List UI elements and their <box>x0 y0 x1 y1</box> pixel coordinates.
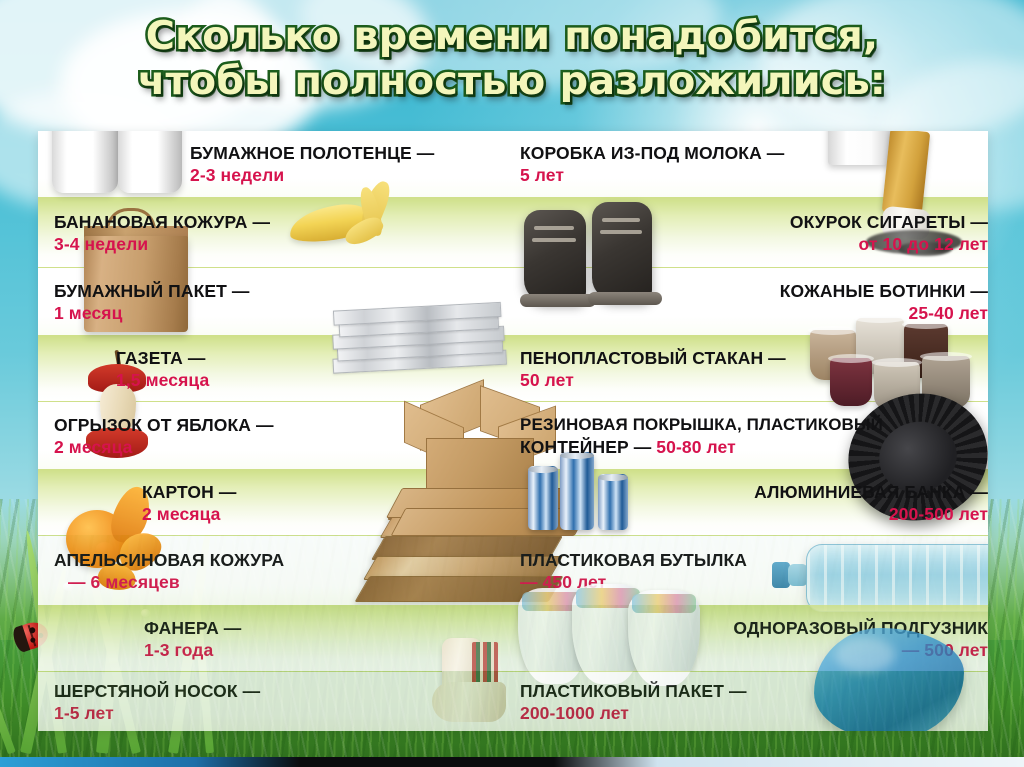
table-row: ФАНЕРА — 1-3 года ОДНОРАЗОВЫЙ ПОДГУЗНИК … <box>38 605 988 671</box>
row-left-cell: АПЕЛЬСИНОВАЯ КОЖУРА — 6 месяцев <box>38 536 524 605</box>
row-right-cell: ОДНОРАЗОВЫЙ ПОДГУЗНИК — 500 лет <box>508 606 988 671</box>
table-row: ШЕРСТЯНОЙ НОСОК — 1-5 лет ПЛАСТИКОВЫЙ ПА… <box>38 671 988 731</box>
item-label: КОЖАНЫЕ БОТИНКИ — <box>780 280 988 302</box>
item-label: ОГРЫЗОК ОТ ЯБЛОКА — <box>54 414 274 436</box>
decomposition-table: БУМАЖНОЕ ПОЛОТЕНЦЕ — 2-3 недели КОРОБКА … <box>38 131 988 731</box>
row-right-cell: КОЖАНЫЕ БОТИНКИ — 25-40 лет <box>508 268 988 335</box>
row-left-cell: ОГРЫЗОК ОТ ЯБЛОКА — 2 месяца <box>38 402 524 469</box>
table-row: БУМАЖНОЕ ПОЛОТЕНЦЕ — 2-3 недели КОРОБКА … <box>38 131 988 197</box>
item-label: АПЕЛЬСИНОВАЯ КОЖУРА <box>54 549 284 571</box>
item-value: — 450 лет <box>520 571 606 593</box>
item-label: ШЕРСТЯНОЙ НОСОК — <box>54 680 260 702</box>
item-value: 200-500 лет <box>889 503 988 525</box>
item-label: ПЛАСТИКОВАЯ БУТЫЛКА <box>520 549 747 571</box>
row-right-cell: ПЛАСТИКОВЫЙ ПАКЕТ — 200-1000 лет <box>508 672 988 731</box>
item-value: 25-40 лет <box>909 302 988 324</box>
row-right-cell: РЕЗИНОВАЯ ПОКРЫШКА, ПЛАСТИКОВЫЙ КОНТЕЙНЕ… <box>508 402 988 469</box>
row-left-cell: ШЕРСТЯНОЙ НОСОК — 1-5 лет <box>38 672 524 731</box>
row-right-cell: ОКУРОК СИГАРЕТЫ — от 10 до 12 лет <box>508 198 988 267</box>
table-row: БУМАЖНЫЙ ПАКЕТ — 1 месяц КОЖАНЫЕ БОТИНКИ… <box>38 267 988 335</box>
bottom-edge-bar <box>0 757 1024 767</box>
item-label: КАРТОН — <box>142 481 236 503</box>
item-label: АЛЮМИНИЕВАЯ БАНКА — <box>754 481 988 503</box>
item-value: 50 лет <box>520 369 574 391</box>
row-right-cell: ПЛАСТИКОВАЯ БУТЫЛКА — 450 лет <box>508 536 988 605</box>
item-label: ОДНОРАЗОВЫЙ ПОДГУЗНИК <box>733 617 988 639</box>
item-value: 1 месяц <box>54 302 122 324</box>
row-left-cell: БУМАЖНЫЙ ПАКЕТ — 1 месяц <box>38 268 524 335</box>
item-label: ОКУРОК СИГАРЕТЫ — <box>790 211 988 233</box>
item-value: 2 месяца <box>54 436 133 458</box>
item-label: ФАНЕРА — <box>144 617 241 639</box>
item-value: — 500 лет <box>902 639 988 661</box>
item-label: КОРОБКА ИЗ-ПОД МОЛОКА — <box>520 142 784 164</box>
item-value: 1-5 лет <box>54 702 114 724</box>
item-label: РЕЗИНОВАЯ ПОКРЫШКА, ПЛАСТИКОВЫЙ <box>520 414 883 436</box>
item-value: от 10 до 12 лет <box>859 233 988 255</box>
row-right-cell: ПЕНОПЛАСТОВЫЙ СТАКАН — 50 лет <box>508 336 988 401</box>
item-value: 5 лет <box>520 164 564 186</box>
item-value: — 6 месяцев <box>54 571 180 593</box>
table-row: ГАЗЕТА — 1,5 месяца ПЕНОПЛАСТОВЫЙ СТАКАН… <box>38 335 988 401</box>
item-label: БУМАЖНОЕ ПОЛОТЕНЦЕ — <box>190 142 434 164</box>
table-row: ОГРЫЗОК ОТ ЯБЛОКА — 2 месяца РЕЗИНОВАЯ П… <box>38 401 988 469</box>
table-row: КАРТОН — 2 месяца АЛЮМИНИЕВАЯ БАНКА — 20… <box>38 469 988 535</box>
item-value: 200-1000 лет <box>520 702 629 724</box>
item-value: 3-4 недели <box>54 233 148 255</box>
item-label: ПЕНОПЛАСТОВЫЙ СТАКАН — <box>520 347 786 369</box>
row-left-cell: БАНАНОВАЯ КОЖУРА — 3-4 недели <box>38 198 524 267</box>
item-label: БУМАЖНЫЙ ПАКЕТ — <box>54 280 250 302</box>
item-value: 1-3 года <box>144 639 213 661</box>
item-value: 2-3 недели <box>190 164 284 186</box>
item-label: ПЛАСТИКОВЫЙ ПАКЕТ — <box>520 680 747 702</box>
table-row: БАНАНОВАЯ КОЖУРА — 3-4 недели ОКУРОК СИГ… <box>38 197 988 267</box>
table-row: АПЕЛЬСИНОВАЯ КОЖУРА — 6 месяцев ПЛАСТИКО… <box>38 535 988 605</box>
item-label: ГАЗЕТА — <box>116 347 205 369</box>
item-value: 2 месяца <box>142 503 221 525</box>
item-value: КОНТЕЙНЕР — 50-80 лет <box>520 436 736 458</box>
row-right-cell: АЛЮМИНИЕВАЯ БАНКА — 200-500 лет <box>508 470 988 535</box>
item-label: БАНАНОВАЯ КОЖУРА — <box>54 211 270 233</box>
row-right-cell: КОРОБКА ИЗ-ПОД МОЛОКА — 5 лет <box>508 131 988 197</box>
row-left-cell: ГАЗЕТА — 1,5 месяца <box>38 336 586 401</box>
item-value: 1,5 месяца <box>116 369 209 391</box>
